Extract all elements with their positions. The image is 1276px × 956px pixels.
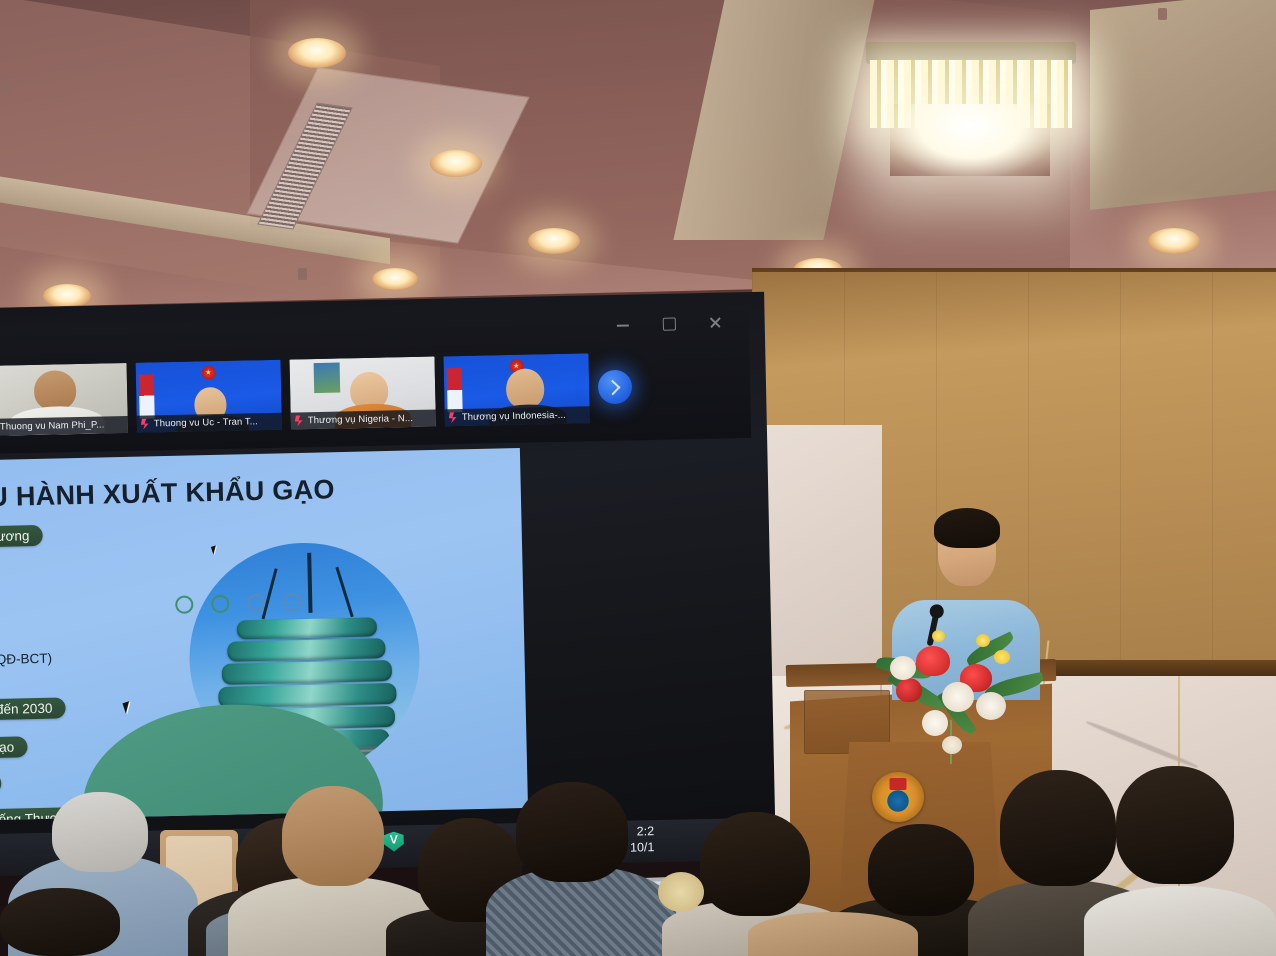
downlight-icon: [288, 38, 346, 68]
slide-title: C ĐIỀU HÀNH XUẤT KHẨU GẠO: [0, 474, 335, 515]
taskbar-clock[interactable]: 2:2 10/1: [630, 823, 655, 856]
leaf: [964, 631, 1017, 666]
chandelier-glow: [890, 104, 1050, 176]
presentation-slide: C ĐIỀU HÀNH XUẤT KHẨU GẠO Bộ Công Thương…: [0, 448, 528, 822]
participant-tile[interactable]: Thương vụ Nigeria - N...: [290, 357, 436, 430]
slide-pill: ương mại: [0, 773, 2, 796]
marble-vein: [1085, 720, 1198, 770]
participant-name: Thuong vu Nam Phi_P...: [0, 419, 104, 432]
audience-head: [516, 782, 628, 882]
window-controls[interactable]: [615, 314, 723, 332]
marble-wall-left-segment: [752, 425, 882, 677]
orchid-bud: [942, 736, 962, 754]
audience-head-bald: [282, 786, 384, 886]
flag-banner: [139, 374, 155, 418]
white-flower: [922, 710, 948, 736]
maximize-icon[interactable]: [661, 315, 677, 331]
slide-pill: rường gạo đến 2030: [0, 697, 66, 721]
yellow-flower: [976, 634, 990, 647]
close-icon[interactable]: [707, 314, 723, 330]
hair-bun: [658, 872, 704, 912]
audience-shoulders: [748, 912, 918, 956]
participant-name: Thương vụ Indonesia-...: [462, 410, 566, 423]
yellow-flower: [994, 650, 1010, 664]
anthurium-flower: [896, 678, 922, 702]
rice-sack: [237, 617, 377, 639]
slide-dot[interactable]: [283, 593, 301, 611]
yellow-flower: [932, 630, 945, 642]
slide-pill: Bộ Công Thương: [0, 525, 43, 549]
zoom-logo-icon: [448, 412, 459, 423]
participant-name-bar: Thuong vu Nam Phi_P...: [0, 416, 128, 436]
participant-tile[interactable]: Thuong vu Uc - Tran T...: [136, 360, 282, 433]
downlight-icon: [1148, 228, 1200, 254]
screenshot-root: Thuong vu Nam Phi_P... Thuong vu Uc - Tr…: [0, 0, 1276, 956]
participant-tile-strip: Thuong vu Nam Phi_P... Thuong vu Uc - Tr…: [0, 353, 590, 436]
white-flower: [942, 682, 974, 712]
rice-sack: [222, 660, 392, 685]
slide-dot[interactable]: [175, 595, 193, 613]
zoom-logo-icon: [294, 415, 305, 426]
video-conference-window[interactable]: Thuong vu Nam Phi_P... Thuong vu Uc - Tr…: [0, 310, 751, 454]
vietnam-trade-union-emblem-icon: [872, 772, 924, 822]
ceiling-trim-strip: [1090, 0, 1276, 210]
slide-dot[interactable]: [211, 595, 229, 613]
audience-head: [1116, 766, 1234, 884]
sprinkler-head-icon: [1158, 8, 1167, 20]
participant-tile[interactable]: Thuong vu Nam Phi_P...: [0, 363, 128, 436]
participant-name: Thuong vu Uc - Tran T...: [154, 416, 258, 429]
audience-head: [868, 824, 974, 916]
downlight-icon: [430, 150, 482, 177]
crane-cable: [335, 567, 353, 617]
slide-dot[interactable]: [247, 594, 265, 612]
slide-line: yết định 831/QĐ-BCT): [0, 651, 52, 669]
zoom-logo-icon: [140, 418, 151, 429]
anthurium-flower: [916, 646, 950, 676]
white-flower: [976, 692, 1006, 720]
minimize-icon[interactable]: [615, 316, 631, 332]
audience-head: [0, 888, 120, 956]
downlight-icon: [43, 284, 91, 308]
downlight-icon: [528, 228, 580, 254]
downlight-icon: [372, 268, 418, 290]
clock-date: 10/1: [630, 839, 655, 856]
participant-name-bar: Thương vụ Nigeria - N...: [291, 410, 436, 430]
background-picture: [314, 363, 341, 394]
avatar: [506, 368, 545, 409]
audience-head: [52, 792, 148, 872]
avatar: [34, 370, 77, 411]
slide-progress-dots[interactable]: [175, 593, 301, 614]
audience-shoulders: [1084, 886, 1276, 956]
crane-mast: [307, 553, 312, 613]
clock-time: 2:2: [630, 823, 655, 840]
audience-head: [1000, 770, 1116, 886]
vietnam-emblem-icon: [201, 366, 216, 379]
participant-name-bar: Thuong vu Uc - Tran T...: [137, 413, 282, 433]
white-flower: [890, 656, 916, 680]
sprinkler-head-icon: [2, 82, 11, 94]
flag-banner: [447, 368, 463, 412]
audience-head: [700, 812, 810, 916]
participant-name: Thương vụ Nigeria - N...: [308, 413, 413, 426]
sprinkler-head-icon: [298, 268, 307, 280]
flower-arrangement: [872, 620, 1048, 752]
participant-name-bar: Thương vụ Indonesia-...: [445, 406, 590, 426]
slide-pill: ương mại gạo: [0, 736, 27, 760]
participant-tile[interactable]: Thương vụ Indonesia-...: [443, 353, 589, 426]
crystal-chandelier: [866, 42, 1076, 172]
rice-sack: [227, 638, 385, 662]
speaker-hair: [934, 508, 1000, 548]
shield-antivirus-icon[interactable]: [384, 831, 404, 851]
